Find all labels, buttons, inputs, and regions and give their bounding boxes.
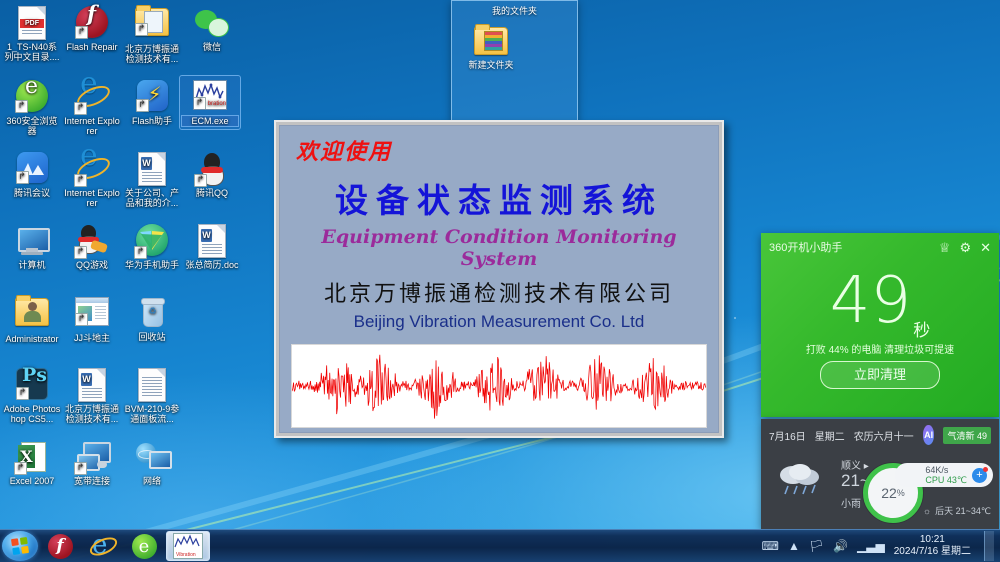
desktop-icon-label: Internet Explorer (62, 188, 122, 208)
shortcut-arrow-icon: ↱ (135, 23, 148, 36)
ecm-app-icon: bration ↱ (193, 80, 227, 114)
desktop-icon-label: 360安全浏览器 (2, 116, 62, 136)
desktop-icon-excel-2007[interactable]: X ↱ Excel 2007 (2, 438, 62, 486)
cpu-temperature: CPU 43℃ (925, 475, 967, 485)
crown-icon[interactable]: ♕ (939, 241, 951, 254)
weather-weekday: 星期二 (815, 428, 845, 443)
flash-player-icon: f (48, 534, 73, 559)
shortcut-arrow-icon: ↱ (136, 99, 149, 112)
desktop-icon-administrator[interactable]: Administrator (2, 294, 62, 344)
taskbar[interactable]: f e e Vibration ⌨ ▲ 🏳 🔊 ▁▃▅ 10:21 2024/7… (0, 529, 1000, 562)
desktop-icon-label: BVM-210-9参通面板流... (122, 404, 182, 424)
text-document-icon (135, 368, 169, 402)
taskbar-button-ie[interactable]: e (82, 531, 122, 561)
shortcut-arrow-icon: ↱ (75, 313, 88, 326)
desktop-icon-360-browser[interactable]: e ↱ 360安全浏览器 (2, 78, 62, 136)
ecm-splash-window[interactable]: 欢迎使用 设备状态监测系统 Equipment Condition Monito… (274, 120, 724, 438)
user-folder-icon (15, 298, 49, 332)
waveform-glyph (174, 534, 200, 552)
shortcut-arrow-icon: ↱ (134, 246, 147, 259)
desktop-icon-label: 华为手机助手 (122, 260, 182, 270)
desktop-icon-internet-explorer-2[interactable]: e ↱ Internet Explorer (62, 150, 122, 208)
desktop-icon-tencent-meeting[interactable]: ↱ 腾讯会议 (2, 150, 62, 198)
folder-window-title: 我的文件夹 (452, 1, 577, 17)
desktop-icon-label: Administrator (2, 334, 62, 344)
add-widget-icon[interactable]: + (972, 468, 987, 483)
volume-icon[interactable]: 🔊 (833, 540, 848, 552)
company-name-english: Beijing Vibration Measurement Co. Ltd (280, 312, 718, 332)
broadband-connection-icon: ↱ (75, 440, 109, 474)
desktop-icon-flash-assistant[interactable]: ⚡ ↱ Flash助手 (122, 78, 182, 126)
desktop-icon-ecm-exe[interactable]: bration ↱ ECM.exe (180, 76, 240, 129)
weather-condition: 小雨 (841, 495, 861, 510)
memory-usage-unit: % (897, 488, 905, 498)
shortcut-arrow-icon: ↱ (74, 462, 87, 475)
keyboard-icon[interactable]: ⌨ (762, 540, 779, 552)
wechat-icon (195, 6, 229, 40)
weather-lunar: 农历六月十一 (854, 428, 914, 443)
word-document-icon: W (195, 224, 229, 258)
shortcut-arrow-icon: ↱ (74, 246, 87, 259)
boot-comparison-text: 打败 44% 的电脑 清理垃圾可提速 (761, 341, 999, 356)
close-icon[interactable]: ✕ (980, 241, 991, 254)
desktop-icon-label: 微信 (182, 42, 242, 52)
huawei-assistant-icon: ↱ (135, 224, 169, 258)
desktop-icon-about-company-doc[interactable]: W 关于公司、产品和我的介... (122, 150, 182, 208)
shortcut-arrow-icon: ↱ (14, 462, 27, 475)
network-icon (135, 440, 169, 474)
weather-date: 7月16日 (769, 428, 806, 443)
weather-widget[interactable]: 7月16日 星期二 农历六月十一 AI 气清新 49 顺义 ▸ 21~31 小雨… (761, 419, 999, 529)
show-desktop-button[interactable] (984, 531, 994, 561)
desktop-icon-label: 网络 (122, 476, 182, 486)
shortcut-arrow-icon: ↱ (16, 171, 29, 184)
desktop-icon-label: Flash助手 (122, 116, 182, 126)
desktop-icon-network[interactable]: 网络 (122, 438, 182, 486)
weather-date-row: 7月16日 星期二 农历六月十一 AI 气清新 49 (761, 419, 999, 445)
desktop-icon-tencent-qq[interactable]: ↱ 腾讯QQ (182, 150, 242, 198)
desktop-icon-internet-explorer-1[interactable]: e ↱ Internet Explorer (62, 78, 122, 136)
taskbar-clock[interactable]: 10:21 2024/7/16 星期二 (894, 534, 971, 558)
browser-360-icon: e ↱ (15, 80, 49, 114)
vibration-waveform (292, 345, 706, 427)
action-center-icon[interactable]: 🏳 (809, 540, 824, 552)
shortcut-arrow-icon: ↱ (75, 26, 88, 39)
desktop-icon-label: 北京万博振通检测技术有... (122, 44, 182, 64)
vibration-waveform-panel (291, 344, 707, 428)
system-tray: ⌨ ▲ 🏳 🔊 ▁▃▅ 10:21 2024/7/16 星期二 (762, 531, 1000, 561)
desktop-icon-label: QQ游戏 (62, 260, 122, 270)
flash-assistant-icon: ⚡ ↱ (135, 80, 169, 114)
flash-repair-icon: f ↱ (75, 6, 109, 40)
shortcut-arrow-icon: ↱ (194, 174, 207, 187)
network-signal-icon[interactable]: ▁▃▅ (857, 540, 885, 552)
taskbar-button-ecm[interactable]: Vibration (166, 531, 210, 561)
word-document-icon: W (75, 368, 109, 402)
computer-icon (15, 224, 49, 258)
360-boot-assistant-widget[interactable]: 360开机小助手 ♕ ⚙ ✕ 49秒 打败 44% 的电脑 清理垃圾可提速 立即… (761, 233, 999, 417)
desktop-icon-label: ECM.exe (182, 116, 238, 126)
desktop-icon-qq-games[interactable]: ↱ QQ游戏 (62, 222, 122, 270)
desktop-icon-wechat[interactable]: 微信 (182, 4, 242, 52)
jj-landlord-icon: ↱ (75, 297, 109, 331)
clock-time: 10:21 (894, 534, 971, 546)
taskbar-button-flash[interactable]: f (40, 531, 80, 561)
desktop-icon-resume-doc[interactable]: W 张总简历.doc (182, 222, 242, 270)
desktop-icon-photoshop[interactable]: Ps ↱ Adobe Photoshop CS5... (2, 366, 62, 424)
weather-city[interactable]: 顺义 ▸ (841, 457, 869, 472)
desktop-icon-label: Excel 2007 (2, 476, 62, 486)
desktop-icon-label: 北京万博振通检测技术有... (62, 404, 122, 424)
start-button[interactable] (2, 531, 38, 561)
desktop-icon-label: 腾讯会议 (2, 188, 62, 198)
widget-360-actions: ♕ ⚙ ✕ (939, 241, 991, 254)
app-title-chinese: 设备状态监测系统 (280, 174, 718, 222)
weather-forecast: ☼ 后天 21~34℃ (923, 504, 991, 517)
folder-icon: ↱ (135, 8, 169, 42)
show-hidden-icons-icon[interactable]: ▲ (788, 540, 800, 552)
desktop-icon-label: 回收站 (122, 332, 182, 342)
folder-window[interactable]: 我的文件夹 新建文件夹 (451, 0, 578, 122)
sun-icon: ☼ (923, 506, 931, 516)
windows-logo-icon (11, 537, 29, 555)
widget-360-title: 360开机小助手 (769, 239, 939, 255)
shortcut-arrow-icon: ↱ (74, 174, 87, 187)
desktop-icon-bvm-doc[interactable]: BVM-210-9参通面板流... (122, 366, 182, 424)
excel-icon: X ↱ (15, 440, 49, 474)
clock-date: 2024/7/16 星期二 (894, 546, 971, 558)
rain-cloud-icon (775, 461, 827, 497)
desktop-icon-label: Adobe Photoshop CS5... (2, 404, 62, 424)
tencent-meeting-icon: ↱ (15, 152, 49, 186)
folder-window-item[interactable]: 新建文件夹 (460, 23, 522, 71)
desktop-icon-label: Internet Explorer (62, 116, 122, 136)
memory-usage-value: 22 (881, 485, 897, 501)
desktop-icon-label: 宽带连接 (62, 476, 122, 486)
shortcut-arrow-icon: ↱ (193, 97, 206, 110)
desktop-icon-label: Flash Repair (62, 42, 122, 52)
taskbar-button-360-browser[interactable]: e (124, 531, 164, 561)
clean-now-button[interactable]: 立即清理 (820, 361, 940, 389)
desktop-icon-label: 1_TS-N40系列中文目录.... (2, 42, 62, 62)
boot-seconds-unit: 秒 (913, 321, 930, 341)
desktop-icon-flash-repair[interactable]: f ↱ Flash Repair (62, 4, 122, 52)
qq-games-icon: ↱ (75, 224, 109, 258)
word-document-icon: W (135, 152, 169, 186)
desktop-icon-pdf-catalog[interactable]: PDF 1_TS-N40系列中文目录.... (2, 4, 62, 62)
weather-forecast-label: 后天 21~34℃ (935, 504, 991, 517)
splash-content: 欢迎使用 设备状态监测系统 Equipment Condition Monito… (279, 125, 719, 433)
desktop-icon-broadband-connection[interactable]: ↱ 宽带连接 (62, 438, 122, 486)
desktop-icon-jj-landlord[interactable]: ↱ JJ斗地主 (62, 294, 122, 343)
shortcut-arrow-icon: ↱ (16, 387, 29, 400)
pdf-document-icon: PDF (15, 6, 49, 40)
desktop-icon-label: 张总简历.doc (182, 260, 242, 270)
folder-window-item-label: 新建文件夹 (468, 60, 513, 70)
internet-explorer-icon: e (89, 533, 115, 559)
browser-360-icon: e (132, 534, 157, 559)
desktop-icon-label: JJ斗地主 (62, 333, 122, 343)
desktop-icon-label: 腾讯QQ (182, 188, 242, 198)
network-speed: 64K/s (925, 465, 967, 475)
welcome-text: 欢迎使用 (296, 134, 392, 166)
app-title-english: Equipment Condition Monitoring System (280, 226, 718, 270)
shortcut-arrow-icon: ↱ (15, 100, 28, 113)
desktop-icon-computer[interactable]: 计算机 (2, 222, 62, 270)
boot-seconds: 49 (830, 264, 911, 338)
desktop-icon-label: 关于公司、产品和我的介... (122, 188, 182, 208)
tencent-qq-icon: ↱ (195, 152, 229, 186)
air-quality-badge: 气清新 49 (943, 427, 991, 444)
desktop-icon-huawei-assistant[interactable]: ↱ 华为手机助手 (122, 222, 182, 270)
photoshop-icon: Ps ↱ (15, 368, 49, 402)
ecm-app-icon: Vibration (173, 533, 203, 559)
shortcut-arrow-icon: ↱ (74, 102, 87, 115)
desktop-icon-label: 计算机 (2, 260, 62, 270)
desktop-icon-company-folder[interactable]: ↱ 北京万博振通检测技术有... (122, 4, 182, 64)
company-name-chinese: 北京万博振通检测技术有限公司 (280, 276, 718, 308)
system-stats-pill[interactable]: 64K/s CPU 43℃ + (895, 463, 993, 487)
gear-icon[interactable]: ⚙ (959, 241, 971, 254)
desktop-icon-company-doc[interactable]: W 北京万博振通检测技术有... (62, 366, 122, 424)
widget-360-header: 360开机小助手 ♕ ⚙ ✕ (761, 233, 999, 255)
ai-badge[interactable]: AI (923, 425, 935, 445)
weather-body: 顺义 ▸ 21~31 小雨 22% 64K/s CPU 43℃ + ☼ 后天 2… (761, 445, 999, 523)
new-folder-icon (474, 27, 508, 57)
internet-explorer-icon: e ↱ (75, 80, 109, 114)
desktop-icon-recycle-bin[interactable]: ♻ 回收站 (122, 294, 182, 342)
internet-explorer-icon: e ↱ (75, 152, 109, 186)
recycle-bin-icon: ♻ (135, 296, 169, 330)
